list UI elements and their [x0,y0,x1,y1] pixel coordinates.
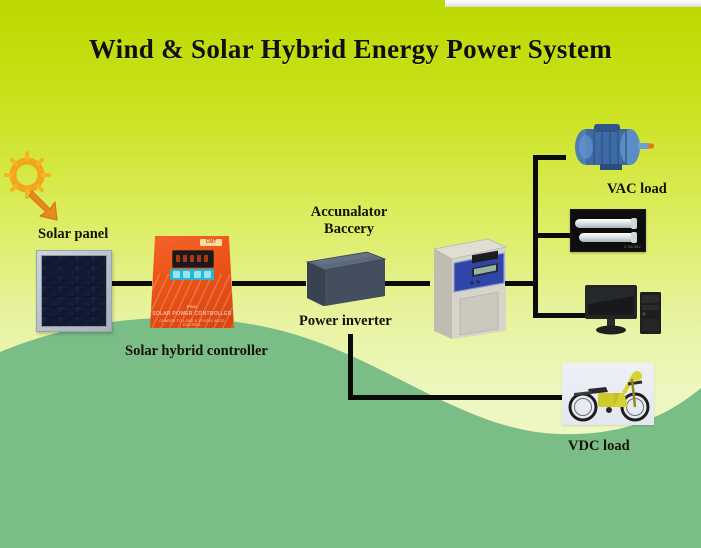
wire-panel-to-controller [112,281,152,286]
wire-dc-to-bike [348,395,564,400]
controller-brand: CMT [200,239,222,246]
label-vdc-load: VDC load [568,438,630,455]
label-accumulator: Accunalator Baccery [305,204,393,238]
top-white-strip [445,0,701,7]
label-power-inverter: Power inverter [299,313,392,330]
label-solar-panel: Solar panel [38,226,108,243]
lamp-cap-2 [631,232,637,243]
label-vac-load: VAC load [607,181,667,198]
wire-bus-to-motor [533,155,566,160]
sunlight-arrow-icon [28,188,62,224]
page-title: Wind & Solar Hybrid Energy Power System [0,34,701,65]
lamp-tube-2 [579,233,635,242]
power-inverter-icon [428,235,508,345]
fluorescent-lamp-icon: 0.5A/36V [570,209,646,252]
lamp-rating-text: 0.5A/36V [624,245,641,249]
wire-bus-to-lamp [533,233,571,238]
controller-display [172,250,214,268]
wire-bus-to-computer [533,313,585,318]
wire-dc-drop [348,334,353,400]
lamp-cap-1 [631,218,637,229]
lamp-tube-1 [575,219,635,228]
desktop-computer-icon [584,282,662,338]
controller-model: PWM [150,304,234,309]
ac-motor-icon [564,120,656,172]
solar-controller-icon: CMT PWM SOLAR POWER CONTROLLER CHARGE TO… [150,236,234,328]
controller-keypad[interactable] [170,269,214,280]
controller-product-text: SOLAR POWER CONTROLLER [150,311,234,317]
label-accumulator-line1: Accunalator [305,204,393,221]
label-accumulator-line2: Baccery [305,221,393,238]
battery-icon [305,248,387,306]
electric-bicycle-icon [562,363,654,425]
solar-panel-cells [41,255,107,327]
controller-sub-text: CHARGE TO LOAD & 12V/24V AUTO CONTROL [150,319,234,327]
wire-battery-to-inverter [385,281,430,286]
label-solar-hybrid-controller: Solar hybrid controller [125,343,268,360]
solar-panel-icon [36,250,112,332]
wire-controller-to-battery [232,281,306,286]
diagram-canvas: Wind & Solar Hybrid Energy Power System [0,0,701,548]
